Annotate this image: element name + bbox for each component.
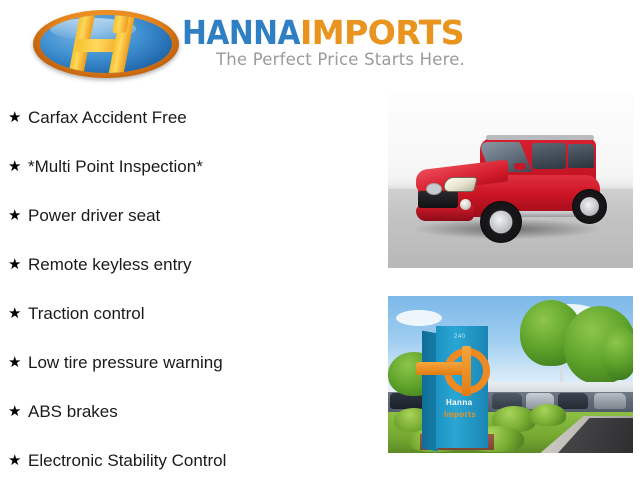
- vehicle-rear-wheel: [572, 189, 607, 224]
- sign-text-hanna: Hanna: [446, 398, 472, 407]
- sign-address-number: 240: [454, 334, 466, 340]
- sign-h-crossbar: [416, 362, 464, 375]
- emblem-inner-disc: [40, 15, 172, 73]
- star-bullet-icon: ★: [8, 159, 28, 174]
- feature-label: *Multi Point Inspection*: [28, 157, 203, 177]
- vehicle-fog-light: [460, 199, 471, 210]
- list-item: ★ Carfax Accident Free: [0, 93, 380, 142]
- star-bullet-icon: ★: [8, 355, 28, 370]
- list-item: ★ Power driver seat: [0, 191, 380, 240]
- wheel-hub: [491, 212, 512, 233]
- feature-label: Carfax Accident Free: [28, 108, 187, 128]
- header-banner: HANNAIMPORTS The Perfect Price Starts He…: [0, 0, 640, 88]
- list-item: ★ Traction control: [0, 289, 380, 338]
- star-bullet-icon: ★: [8, 404, 28, 419]
- parked-car: [558, 393, 588, 409]
- list-item: ★ Remote keyless entry: [0, 240, 380, 289]
- logo-wordmark: HANNAIMPORTS: [182, 14, 522, 54]
- sign-text-imports: Imports: [444, 410, 476, 419]
- feature-label: Electronic Stability Control: [28, 451, 226, 471]
- feature-label: Traction control: [28, 304, 145, 324]
- tree: [603, 326, 633, 380]
- star-bullet-icon: ★: [8, 208, 28, 223]
- toyota-badge-icon: [426, 183, 442, 195]
- parked-car: [594, 393, 626, 409]
- feature-label: Power driver seat: [28, 206, 160, 226]
- vehicle-side-window: [532, 143, 566, 169]
- feature-label: ABS brakes: [28, 402, 118, 422]
- vehicle-photo: [388, 93, 633, 268]
- wordmark-imports: IMPORTS: [300, 13, 464, 52]
- sign-h-stem: [462, 346, 471, 396]
- logo-tagline: The Perfect Price Starts Here.: [216, 50, 516, 69]
- dealership-photo: 240 Hanna Imports: [388, 296, 633, 453]
- shrub: [530, 404, 566, 426]
- star-bullet-icon: ★: [8, 306, 28, 321]
- star-bullet-icon: ★: [8, 110, 28, 125]
- feature-label: Remote keyless entry: [28, 255, 191, 275]
- wordmark-hanna: HANNA: [182, 13, 300, 52]
- wheel-hub: [581, 198, 598, 215]
- hanna-h-emblem-icon: [33, 10, 179, 78]
- list-item: ★ *Multi Point Inspection*: [0, 142, 380, 191]
- vehicle-front-wheel: [480, 201, 522, 243]
- vehicle-side-mirror: [514, 163, 526, 170]
- feature-label: Low tire pressure warning: [28, 353, 223, 373]
- list-item: ★ Electronic Stability Control: [0, 436, 380, 485]
- list-item: ★ ABS brakes: [0, 387, 380, 436]
- list-item: ★ Low tire pressure warning: [0, 338, 380, 387]
- vehicle-roof-rail: [486, 135, 594, 140]
- star-bullet-icon: ★: [8, 257, 28, 272]
- star-bullet-icon: ★: [8, 453, 28, 468]
- cloud: [396, 310, 442, 326]
- vehicle-rear-window: [568, 144, 594, 168]
- vehicle-headlight: [442, 177, 478, 192]
- vehicle-feature-list: ★ Carfax Accident Free ★ *Multi Point In…: [0, 93, 380, 485]
